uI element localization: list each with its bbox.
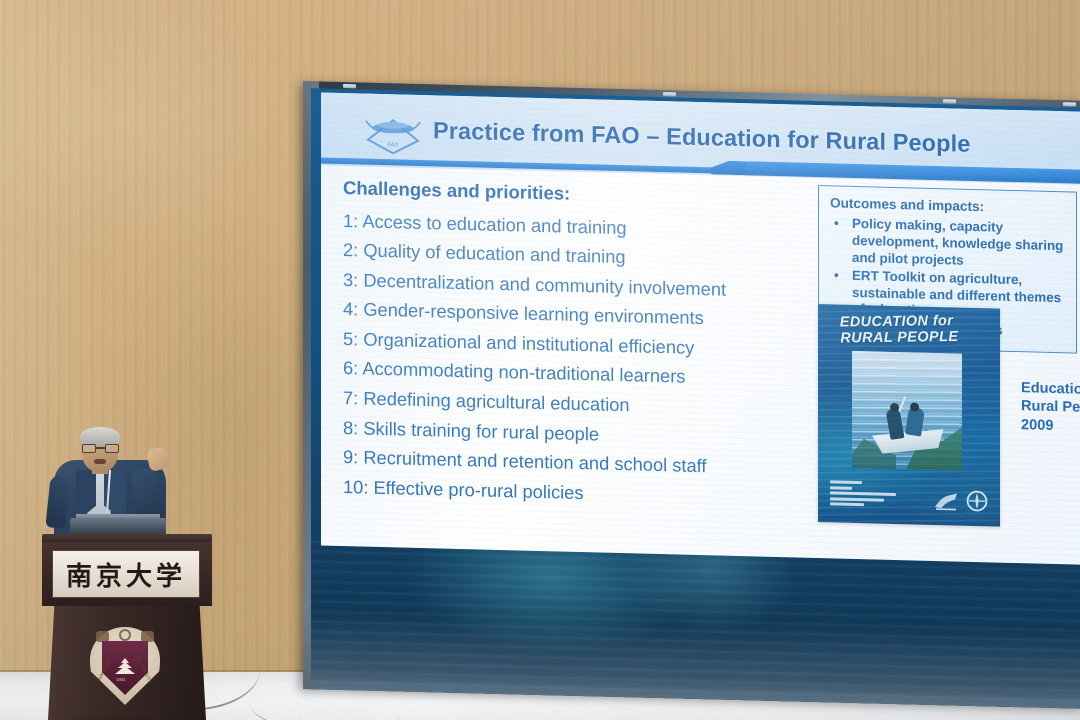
challenges-heading: Challenges and priorities: [343, 177, 813, 211]
screen-mount-clip [1063, 102, 1076, 106]
book-caption: Education for Rural People, 2009 [1021, 379, 1080, 437]
book-cover-subtitle-lines [830, 480, 910, 510]
speaker-raised-hand [146, 446, 170, 472]
text-line [830, 492, 896, 497]
lectern-and-speaker: 南京大学 NANJING UNIVERSITY 1902 [18, 424, 233, 720]
outcome-text: Policy making, capacity development, kno… [852, 216, 1065, 272]
text-line [830, 486, 852, 490]
screen-mount-clip [943, 99, 956, 103]
text-line [830, 480, 862, 484]
bullet-glyph-icon: • [830, 215, 852, 266]
screen-scanline-texture [311, 540, 1080, 709]
lectern-floor-shadow [36, 712, 226, 720]
speaker-mouth [94, 459, 106, 464]
screen-mount-clip [343, 84, 356, 88]
crest-text-left: NANJING [97, 658, 112, 681]
crest-year: 1902 [116, 677, 125, 682]
svg-text:FAO: FAO [388, 142, 398, 148]
eyeglass-bridge [96, 447, 105, 449]
lectern-name-plaque: 南京大学 [52, 550, 200, 598]
slide-title: Practice from FAO – Education for Rural … [433, 117, 970, 158]
list-item: • Policy making, capacity development, k… [830, 215, 1065, 272]
university-crest-icon: NANJING UNIVERSITY 1902 [90, 627, 160, 705]
book-cover-photo [852, 351, 962, 471]
slide-content: FAO Practice from FAO – Education for Ru… [321, 92, 1080, 564]
eyeglasses-icon [82, 444, 119, 453]
slide-body: Challenges and priorities: 1: Access to … [321, 165, 1080, 564]
book-cover-title: EDUCATION for RURAL PEOPLE [839, 314, 994, 347]
text-line [830, 497, 884, 501]
fao-logo-icon: FAO [364, 112, 422, 157]
eyeglass-lens [82, 444, 96, 453]
wheat-emblem-icon [933, 489, 959, 512]
challenges-panel: Challenges and priorities: 1: Access to … [343, 177, 813, 514]
fao-emblem-icon [966, 490, 988, 513]
screen-mount-clip [663, 92, 676, 96]
crest-arc-text: NANJING UNIVERSITY [90, 627, 160, 705]
book-cover-image: EDUCATION for RURAL PEOPLE [818, 304, 1000, 527]
eyeglass-lens [105, 444, 119, 453]
photo-person-head [910, 402, 919, 411]
book-cover-emblems [933, 489, 988, 512]
text-line [830, 503, 864, 507]
photo-person-head [890, 403, 899, 412]
lectern-plaque-text: 南京大学 [66, 556, 186, 593]
crest-text-right: UNIVERSITY [135, 654, 154, 684]
presentation-scene: FAO Practice from FAO – Education for Ru… [0, 0, 1080, 720]
book-cover-title-line2: RURAL PEOPLE [840, 329, 994, 347]
projection-screen: FAO Practice from FAO – Education for Ru… [303, 81, 1080, 709]
outcomes-heading: Outcomes and impacts: [830, 195, 1065, 216]
